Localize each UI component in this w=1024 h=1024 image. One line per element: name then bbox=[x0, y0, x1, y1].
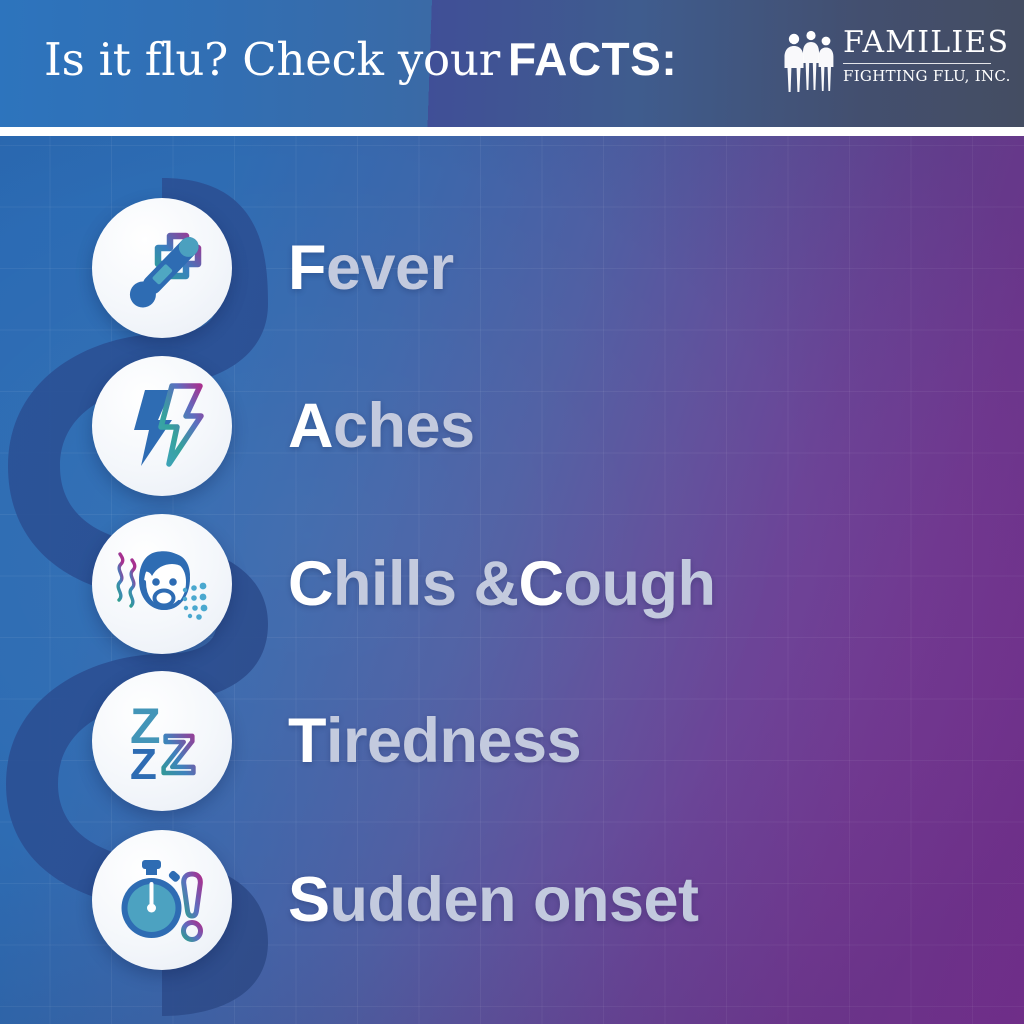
symptom-label: Aches bbox=[288, 356, 475, 496]
svg-text:Z: Z bbox=[130, 740, 157, 789]
symptom-initial-2: C bbox=[519, 548, 564, 620]
symptom-icon-circle bbox=[92, 198, 232, 338]
list-item[interactable]: Fever bbox=[0, 198, 1024, 338]
symptom-icon-circle bbox=[92, 514, 232, 654]
infographic-canvas: Is it flu? Check yourFACTS: FAMILIES bbox=[0, 0, 1024, 1024]
symptom-icon-circle bbox=[92, 356, 232, 496]
list-item[interactable]: Aches bbox=[0, 356, 1024, 496]
symptom-label: Fever bbox=[288, 198, 454, 338]
svg-text:Z: Z bbox=[162, 725, 195, 785]
symptom-rest: iredness bbox=[326, 705, 581, 777]
symptom-icon-circle: Z Z Z bbox=[92, 671, 232, 811]
list-item[interactable]: Z Z Z Tiredness bbox=[0, 671, 1024, 811]
symptom-rest: ches bbox=[333, 390, 475, 462]
symptom-initial: A bbox=[288, 390, 333, 462]
symptom-rest: udden onset bbox=[330, 864, 699, 936]
list-item[interactable]: Sudden onset bbox=[0, 830, 1024, 970]
symptom-initial: T bbox=[288, 705, 326, 777]
symptom-rest: ever bbox=[326, 232, 454, 304]
symptom-initial: C bbox=[288, 548, 333, 620]
lightning-bolts-icon bbox=[108, 372, 216, 480]
sleep-zzz-icon: Z Z Z bbox=[108, 687, 216, 795]
list-item[interactable]: Chills & Cough bbox=[0, 514, 1024, 654]
stopwatch-alert-icon bbox=[108, 846, 216, 954]
symptom-icon-circle bbox=[92, 830, 232, 970]
symptom-mid: hills & bbox=[333, 548, 519, 620]
symptom-label: Sudden onset bbox=[288, 830, 699, 970]
symptom-rest: ough bbox=[564, 548, 716, 620]
symptom-initial: S bbox=[288, 864, 330, 936]
symptom-label: Chills & Cough bbox=[288, 514, 715, 654]
symptom-label: Tiredness bbox=[288, 671, 581, 811]
coughing-face-icon bbox=[106, 528, 218, 640]
thermometer-icon bbox=[108, 214, 216, 322]
symptom-list: Fever bbox=[0, 0, 1024, 1024]
symptom-initial: F bbox=[288, 232, 326, 304]
